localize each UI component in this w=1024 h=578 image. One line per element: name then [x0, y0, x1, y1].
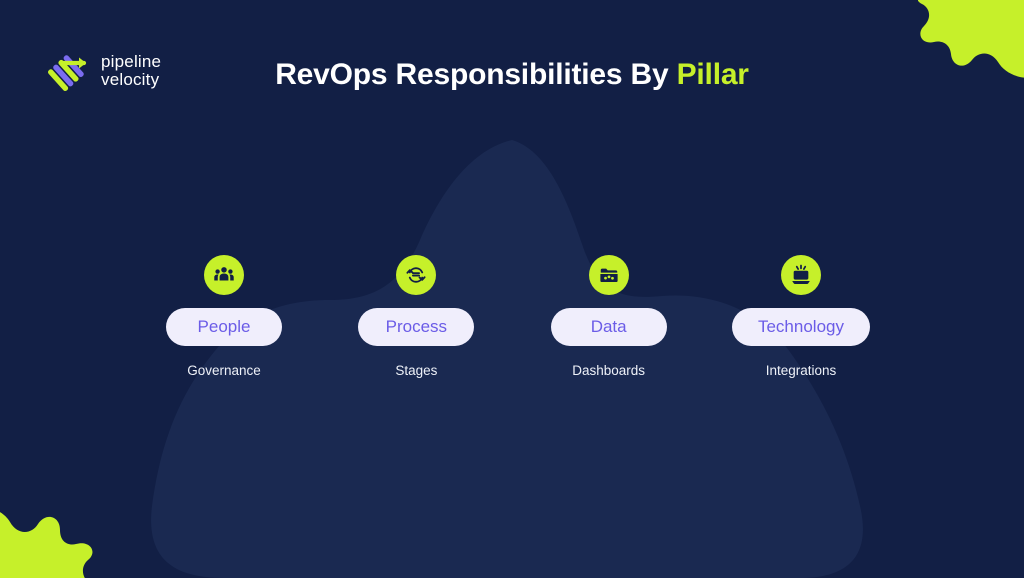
pillar-chip-people[interactable]: People [166, 308, 282, 346]
pillar-chip-data[interactable]: Data [551, 308, 667, 346]
pillar-people[interactable]: People Governance [140, 255, 308, 378]
pillar-process[interactable]: Process Stages [332, 255, 500, 378]
title-main-text: RevOps Responsibilities By [275, 58, 668, 91]
data-folder-icon [589, 255, 629, 295]
slide-canvas: pipeline velocity RevOps Responsibilitie… [0, 0, 1024, 578]
people-group-icon [204, 255, 244, 295]
technology-monitor-icon [781, 255, 821, 295]
title-accent-text: Pillar [677, 58, 749, 91]
process-cycle-icon [396, 255, 436, 295]
pillar-chip-process[interactable]: Process [358, 308, 474, 346]
pillar-chip-technology[interactable]: Technology [732, 308, 870, 346]
pillar-caption-technology: Integrations [766, 363, 837, 378]
pillar-technology[interactable]: Technology Integrations [717, 255, 885, 378]
pillar-row: People Governance Process Stages [140, 255, 885, 378]
pillar-caption-data: Dashboards [572, 363, 645, 378]
slide-title: RevOps Responsibilities By Pillar [0, 58, 1024, 92]
lime-splat-bottom-left [0, 488, 96, 578]
pillar-data[interactable]: Data Dashboards [525, 255, 693, 378]
pillar-caption-people: Governance [187, 363, 261, 378]
pillar-caption-process: Stages [395, 363, 437, 378]
